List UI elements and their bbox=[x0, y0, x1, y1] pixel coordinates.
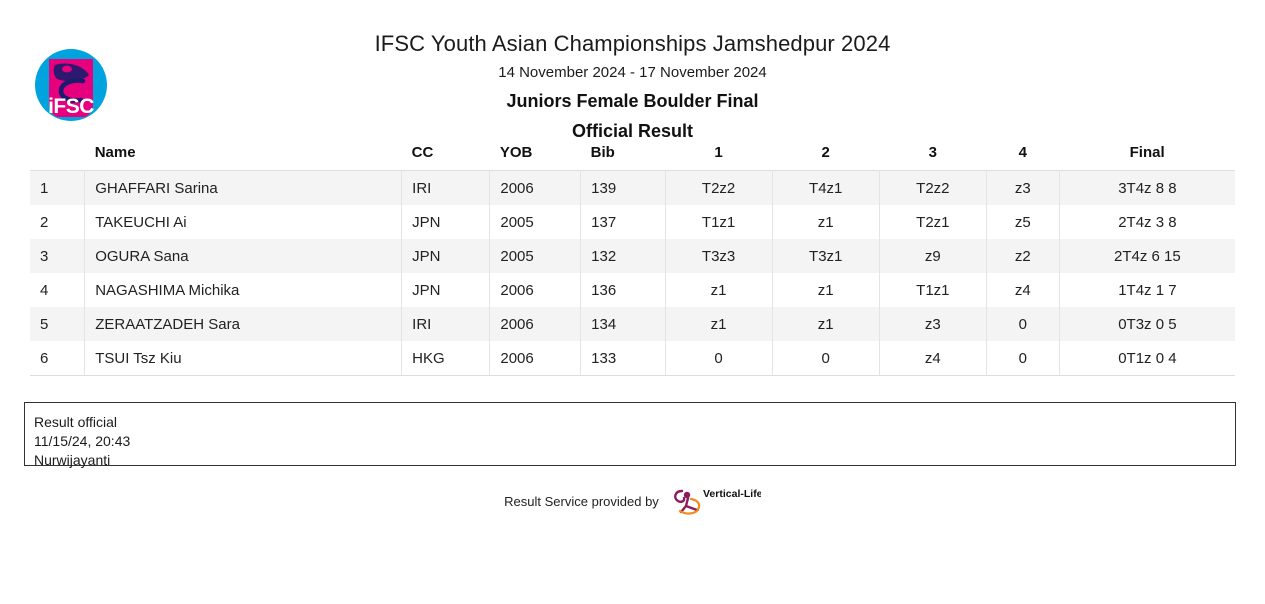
cell-b3: z9 bbox=[879, 239, 986, 273]
cell-final: 0T3z 0 5 bbox=[1059, 307, 1235, 341]
cell-rank: 3 bbox=[30, 239, 85, 273]
official-signatory: Nurwijayanti bbox=[34, 451, 1226, 470]
svg-text:Vertical-Life: Vertical-Life bbox=[703, 488, 761, 500]
cell-bib: 139 bbox=[581, 171, 665, 206]
cell-yob: 2005 bbox=[490, 239, 581, 273]
cell-b4: z2 bbox=[986, 239, 1059, 273]
page-header: iFSC IFSC Youth Asian Championships Jams… bbox=[0, 0, 1265, 122]
column-header-boulder-3: 3 bbox=[879, 140, 986, 171]
cell-name: ZERAATZADEH Sara bbox=[85, 307, 402, 341]
cell-yob: 2006 bbox=[490, 171, 581, 206]
cell-rank: 4 bbox=[30, 273, 85, 307]
cell-b2: z1 bbox=[772, 205, 879, 239]
table-row: 5ZERAATZADEH SaraIRI2006134z1z1z300T3z 0… bbox=[30, 307, 1235, 341]
official-status-line: Result official bbox=[34, 413, 1226, 432]
ifsc-logo-icon: iFSC bbox=[33, 47, 109, 123]
cell-cc: HKG bbox=[402, 341, 490, 376]
cell-b3: T2z2 bbox=[879, 171, 986, 206]
table-header-row: Name CC YOB Bib 1 2 3 4 Final bbox=[30, 140, 1235, 171]
category-title: Juniors Female Boulder Final bbox=[0, 89, 1265, 114]
cell-yob: 2006 bbox=[490, 273, 581, 307]
cell-name: NAGASHIMA Michika bbox=[85, 273, 402, 307]
result-service-credit: Result Service provided by Vertical-Life bbox=[0, 486, 1265, 516]
cell-b4: z4 bbox=[986, 273, 1059, 307]
cell-b1: T3z3 bbox=[665, 239, 772, 273]
column-header-yob: YOB bbox=[490, 140, 581, 171]
table-row: 2TAKEUCHI AiJPN2005137T1z1z1T2z1z52T4z 3… bbox=[30, 205, 1235, 239]
cell-name: GHAFFARI Sarina bbox=[85, 171, 402, 206]
table-row: 3OGURA SanaJPN2005132T3z3T3z1z9z22T4z 6 … bbox=[30, 239, 1235, 273]
cell-b4: z3 bbox=[986, 171, 1059, 206]
cell-cc: JPN bbox=[402, 205, 490, 239]
cell-b1: 0 bbox=[665, 341, 772, 376]
cell-b4: 0 bbox=[986, 307, 1059, 341]
cell-bib: 134 bbox=[581, 307, 665, 341]
cell-final: 3T4z 8 8 bbox=[1059, 171, 1235, 206]
cell-b2: z1 bbox=[772, 307, 879, 341]
official-timestamp: 11/15/24, 20:43 bbox=[34, 432, 1226, 451]
cell-name: TAKEUCHI Ai bbox=[85, 205, 402, 239]
cell-rank: 2 bbox=[30, 205, 85, 239]
cell-bib: 133 bbox=[581, 341, 665, 376]
cell-rank: 1 bbox=[30, 171, 85, 206]
cell-b3: z3 bbox=[879, 307, 986, 341]
cell-rank: 6 bbox=[30, 341, 85, 376]
event-title: IFSC Youth Asian Championships Jamshedpu… bbox=[0, 30, 1265, 58]
svg-text:iFSC: iFSC bbox=[48, 95, 94, 118]
cell-b1: T2z2 bbox=[665, 171, 772, 206]
table-body: 1GHAFFARI SarinaIRI2006139T2z2T4z1T2z2z3… bbox=[30, 171, 1235, 376]
cell-b3: T2z1 bbox=[879, 205, 986, 239]
cell-bib: 136 bbox=[581, 273, 665, 307]
cell-b1: T1z1 bbox=[665, 205, 772, 239]
credit-text: Result Service provided by bbox=[504, 494, 659, 509]
column-header-name: Name bbox=[85, 140, 402, 171]
title-block: IFSC Youth Asian Championships Jamshedpu… bbox=[0, 0, 1265, 144]
cell-final: 2T4z 3 8 bbox=[1059, 205, 1235, 239]
column-header-bib: Bib bbox=[581, 140, 665, 171]
official-result-box: Result official 11/15/24, 20:43 Nurwijay… bbox=[24, 402, 1236, 466]
cell-b3: z4 bbox=[879, 341, 986, 376]
cell-b2: T3z1 bbox=[772, 239, 879, 273]
column-header-boulder-1: 1 bbox=[665, 140, 772, 171]
vertical-life-logo-icon: Vertical-Life bbox=[669, 486, 761, 516]
results-table: Name CC YOB Bib 1 2 3 4 Final 1GHAFFARI … bbox=[30, 140, 1235, 376]
cell-yob: 2005 bbox=[490, 205, 581, 239]
cell-name: OGURA Sana bbox=[85, 239, 402, 273]
cell-final: 2T4z 6 15 bbox=[1059, 239, 1235, 273]
cell-cc: IRI bbox=[402, 307, 490, 341]
column-header-final: Final bbox=[1059, 140, 1235, 171]
table-row: 1GHAFFARI SarinaIRI2006139T2z2T4z1T2z2z3… bbox=[30, 171, 1235, 206]
cell-bib: 132 bbox=[581, 239, 665, 273]
column-header-boulder-2: 2 bbox=[772, 140, 879, 171]
event-dates: 14 November 2024 - 17 November 2024 bbox=[0, 61, 1265, 85]
cell-b2: z1 bbox=[772, 273, 879, 307]
cell-b4: 0 bbox=[986, 341, 1059, 376]
column-header-cc: CC bbox=[402, 140, 490, 171]
cell-b1: z1 bbox=[665, 307, 772, 341]
table-row: 4NAGASHIMA MichikaJPN2006136z1z1T1z1z41T… bbox=[30, 273, 1235, 307]
cell-b1: z1 bbox=[665, 273, 772, 307]
table-row: 6TSUI Tsz KiuHKG200613300z400T1z 0 4 bbox=[30, 341, 1235, 376]
cell-b3: T1z1 bbox=[879, 273, 986, 307]
column-header-boulder-4: 4 bbox=[986, 140, 1059, 171]
cell-rank: 5 bbox=[30, 307, 85, 341]
cell-cc: IRI bbox=[402, 171, 490, 206]
cell-b4: z5 bbox=[986, 205, 1059, 239]
cell-final: 0T1z 0 4 bbox=[1059, 341, 1235, 376]
table-header: Name CC YOB Bib 1 2 3 4 Final bbox=[30, 140, 1235, 171]
cell-b2: 0 bbox=[772, 341, 879, 376]
results-table-container: Name CC YOB Bib 1 2 3 4 Final 1GHAFFARI … bbox=[30, 140, 1235, 376]
cell-bib: 137 bbox=[581, 205, 665, 239]
result-status-title: Official Result bbox=[0, 119, 1265, 144]
cell-name: TSUI Tsz Kiu bbox=[85, 341, 402, 376]
column-header-rank bbox=[30, 140, 85, 171]
cell-yob: 2006 bbox=[490, 307, 581, 341]
cell-b2: T4z1 bbox=[772, 171, 879, 206]
cell-yob: 2006 bbox=[490, 341, 581, 376]
cell-cc: JPN bbox=[402, 273, 490, 307]
cell-final: 1T4z 1 7 bbox=[1059, 273, 1235, 307]
cell-cc: JPN bbox=[402, 239, 490, 273]
